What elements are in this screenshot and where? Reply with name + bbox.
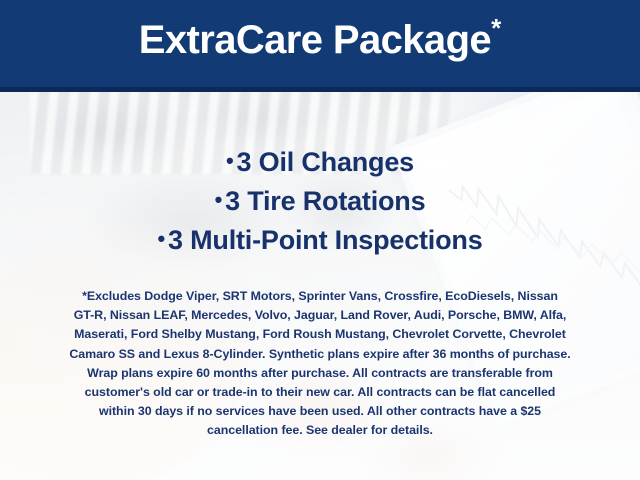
disclaimer-line: GT-R, Nissan LEAF, Mercedes, Volvo, Jagu… bbox=[22, 306, 618, 325]
disclaimer-line: within 30 days if no services have been … bbox=[22, 402, 618, 421]
disclaimer-line: Camaro SS and Lexus 8-Cylinder. Syntheti… bbox=[22, 345, 618, 364]
disclaimer-line: cancellation fee. See dealer for details… bbox=[22, 421, 618, 440]
benefit-item-multi-point-inspections: •3 Multi-Point Inspections bbox=[0, 220, 640, 259]
page-title-text: ExtraCare Package bbox=[139, 18, 491, 62]
disclaimer-line: Maserati, Ford Shelby Mustang, Ford Rous… bbox=[22, 325, 618, 344]
benefit-item-oil-changes: •3 Oil Changes bbox=[0, 142, 640, 181]
header-banner: ExtraCare Package* bbox=[0, 0, 640, 92]
disclaimer-line: Wrap plans expire 60 months after purcha… bbox=[22, 364, 618, 383]
benefit-label: 3 Tire Rotations bbox=[225, 186, 425, 216]
bullet-icon: • bbox=[157, 226, 165, 251]
benefit-label: 3 Multi-Point Inspections bbox=[168, 225, 483, 255]
bullet-icon: • bbox=[226, 148, 234, 173]
extracare-package-ad: ExtraCare Package* •3 Oil Changes •3 Tir… bbox=[0, 0, 640, 480]
title-asterisk: * bbox=[491, 13, 501, 43]
benefit-item-tire-rotations: •3 Tire Rotations bbox=[0, 181, 640, 220]
benefits-list: •3 Oil Changes •3 Tire Rotations •3 Mult… bbox=[0, 142, 640, 259]
benefit-label: 3 Oil Changes bbox=[237, 147, 414, 177]
disclaimer-line: customer's old car or trade-in to their … bbox=[22, 383, 618, 402]
disclaimer-line: *Excludes Dodge Viper, SRT Motors, Sprin… bbox=[22, 287, 618, 306]
page-title: ExtraCare Package* bbox=[0, 15, 640, 60]
disclaimer-text: *Excludes Dodge Viper, SRT Motors, Sprin… bbox=[22, 287, 618, 441]
bullet-icon: • bbox=[215, 187, 223, 212]
banner-bottom-rule bbox=[0, 87, 640, 92]
